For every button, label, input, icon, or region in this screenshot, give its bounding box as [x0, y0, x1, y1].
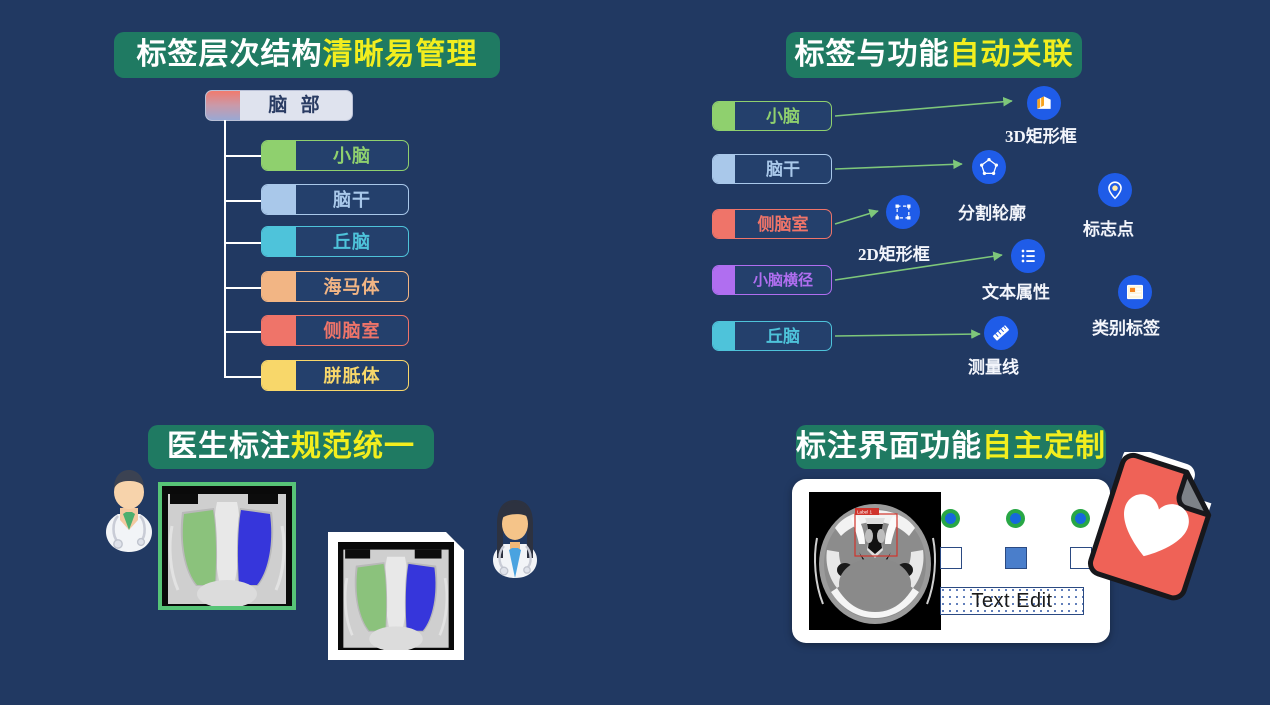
arrow-lateral-ventricle: [835, 211, 878, 224]
arrow-brainstem: [835, 164, 962, 169]
tree-branch-line: [224, 331, 262, 333]
banner-text-highlight: 规范统一: [291, 432, 415, 462]
text-list-glyph: [1018, 246, 1038, 266]
tag-thalamus[interactable]: 丘脑: [712, 321, 832, 351]
poster-root: 标签层次结构清晰易管理 脑 部 小脑 脑干 丘脑 海马体 侧脑室 胼胝体 标签与…: [0, 0, 1270, 705]
checkbox-option-2[interactable]: [1005, 547, 1027, 569]
polygon-contour-glyph: [978, 156, 1000, 178]
polygon-contour-icon[interactable]: [972, 150, 1006, 184]
chest-xray-secondary[interactable]: [328, 532, 464, 660]
category-tag-icon[interactable]: [1118, 275, 1152, 309]
checkbox-option-1[interactable]: [940, 547, 962, 569]
label-hierarchy-banner: 标签层次结构清晰易管理: [114, 32, 500, 78]
tag-swatch: [713, 266, 735, 294]
tree-branch-line: [224, 242, 262, 244]
text-list-icon[interactable]: [1011, 239, 1045, 273]
polygon-contour-label: 分割轮廓: [958, 199, 1026, 224]
banner-text-normal: 标注界面功能: [796, 432, 982, 462]
tree-node-label: 小脑: [296, 147, 408, 165]
ct-bbox-label: Label 1: [857, 510, 873, 515]
tag-cerebellar-diameter[interactable]: 小脑横径: [712, 265, 832, 295]
map-pin-glyph: [1104, 179, 1126, 201]
doctor-standard-banner: 医生标注规范统一: [148, 425, 434, 469]
annotation-ui-card: Label 1 Text Edit: [792, 479, 1110, 643]
tree-branch-line: [224, 155, 262, 157]
tree-node-swatch: [262, 316, 296, 345]
tag-label: 丘脑: [735, 328, 831, 345]
text-list-label: 文本属性: [982, 278, 1050, 303]
tree-node-label: 丘脑: [296, 233, 408, 251]
banner-text-highlight: 自动关联: [950, 40, 1074, 70]
tag-label: 脑干: [735, 161, 831, 178]
radio-option-2[interactable]: [1006, 509, 1025, 528]
tree-node-swatch: [262, 141, 296, 170]
radio-dot: [945, 513, 956, 524]
heart-tag-badge: [1068, 452, 1228, 602]
banner-text-normal: 医生标注: [167, 432, 291, 462]
chest-xray-secondary-svg: [338, 542, 454, 650]
ruler-glyph: [990, 322, 1012, 344]
chest-xray-primary[interactable]: [158, 482, 296, 610]
chest-xray-secondary-canvas: [338, 542, 454, 650]
category-tag-label: 类别标签: [1092, 314, 1160, 339]
tree-node-thalamus[interactable]: 丘脑: [261, 226, 409, 257]
arrow-thalamus: [835, 334, 980, 336]
chest-xray-primary-svg: [162, 486, 292, 606]
tree-node-hippocampus[interactable]: 海马体: [261, 271, 409, 302]
text-edit-field[interactable]: Text Edit: [940, 587, 1084, 615]
text-edit-value: Text Edit: [971, 590, 1052, 613]
arrow-cerebellum: [835, 101, 1012, 116]
doctor-female-avatar: [485, 494, 545, 586]
radio-dot: [1010, 513, 1021, 524]
tag-lateral-ventricle[interactable]: 侧脑室: [712, 209, 832, 239]
rect-2d-label: 2D矩形框: [858, 240, 930, 265]
tree-node-label: 侧脑室: [296, 322, 408, 340]
tag-label: 小脑横径: [735, 273, 831, 288]
rect-2d-icon[interactable]: [886, 195, 920, 229]
tag-swatch: [713, 322, 735, 350]
banner-text-normal: 标签与功能: [795, 40, 950, 70]
tree-trunk-line: [224, 120, 226, 377]
box-3d-glyph: [1034, 93, 1054, 113]
tag-label: 侧脑室: [735, 216, 831, 233]
category-tag-glyph: [1125, 282, 1145, 302]
tree-node-label: 脑干: [296, 191, 408, 209]
tree-node-corpus-callosum[interactable]: 胼胝体: [261, 360, 409, 391]
tree-node-label: 脑 部: [240, 96, 352, 115]
tree-node-label: 胼胝体: [296, 367, 408, 385]
banner-text-highlight: 清晰易管理: [323, 40, 478, 70]
tree-node-swatch: [206, 91, 240, 120]
tag-label: 小脑: [735, 108, 831, 125]
tree-node-lateral-ventricle[interactable]: 侧脑室: [261, 315, 409, 346]
ruler-label: 测量线: [968, 353, 1019, 378]
tree-branch-line: [224, 287, 262, 289]
tree-node-swatch: [262, 361, 296, 390]
tag-cerebellum[interactable]: 小脑: [712, 101, 832, 131]
doctor-male-avatar: [96, 456, 162, 566]
tag-swatch: [713, 210, 735, 238]
map-pin-icon[interactable]: [1098, 173, 1132, 207]
map-pin-label: 标志点: [1083, 215, 1134, 240]
tag-swatch: [713, 155, 735, 183]
tag-swatch: [713, 102, 735, 130]
tree-branch-line: [224, 376, 262, 378]
ct-head-scan-svg: Label 1: [809, 492, 941, 630]
box-3d-icon[interactable]: [1027, 86, 1061, 120]
tree-node-swatch: [262, 272, 296, 301]
tree-node-root[interactable]: 脑 部: [205, 90, 353, 121]
chest-xray-primary-canvas: [162, 486, 292, 606]
ruler-icon[interactable]: [984, 316, 1018, 350]
tree-node-cerebellum[interactable]: 小脑: [261, 140, 409, 171]
tree-node-label: 海马体: [296, 278, 408, 296]
tree-node-swatch: [262, 227, 296, 256]
rect-2d-glyph: [893, 202, 913, 222]
tree-branch-line: [224, 200, 262, 202]
ct-head-scan[interactable]: Label 1: [809, 492, 941, 630]
radio-option-1[interactable]: [941, 509, 960, 528]
banner-text-normal: 标签层次结构: [137, 40, 323, 70]
label-function-banner: 标签与功能自动关联: [786, 32, 1082, 78]
ui-custom-banner: 标注界面功能自主定制: [796, 425, 1106, 469]
box-3d-label: 3D矩形框: [1005, 122, 1077, 147]
tag-brainstem[interactable]: 脑干: [712, 154, 832, 184]
tree-node-swatch: [262, 185, 296, 214]
tree-node-brainstem[interactable]: 脑干: [261, 184, 409, 215]
